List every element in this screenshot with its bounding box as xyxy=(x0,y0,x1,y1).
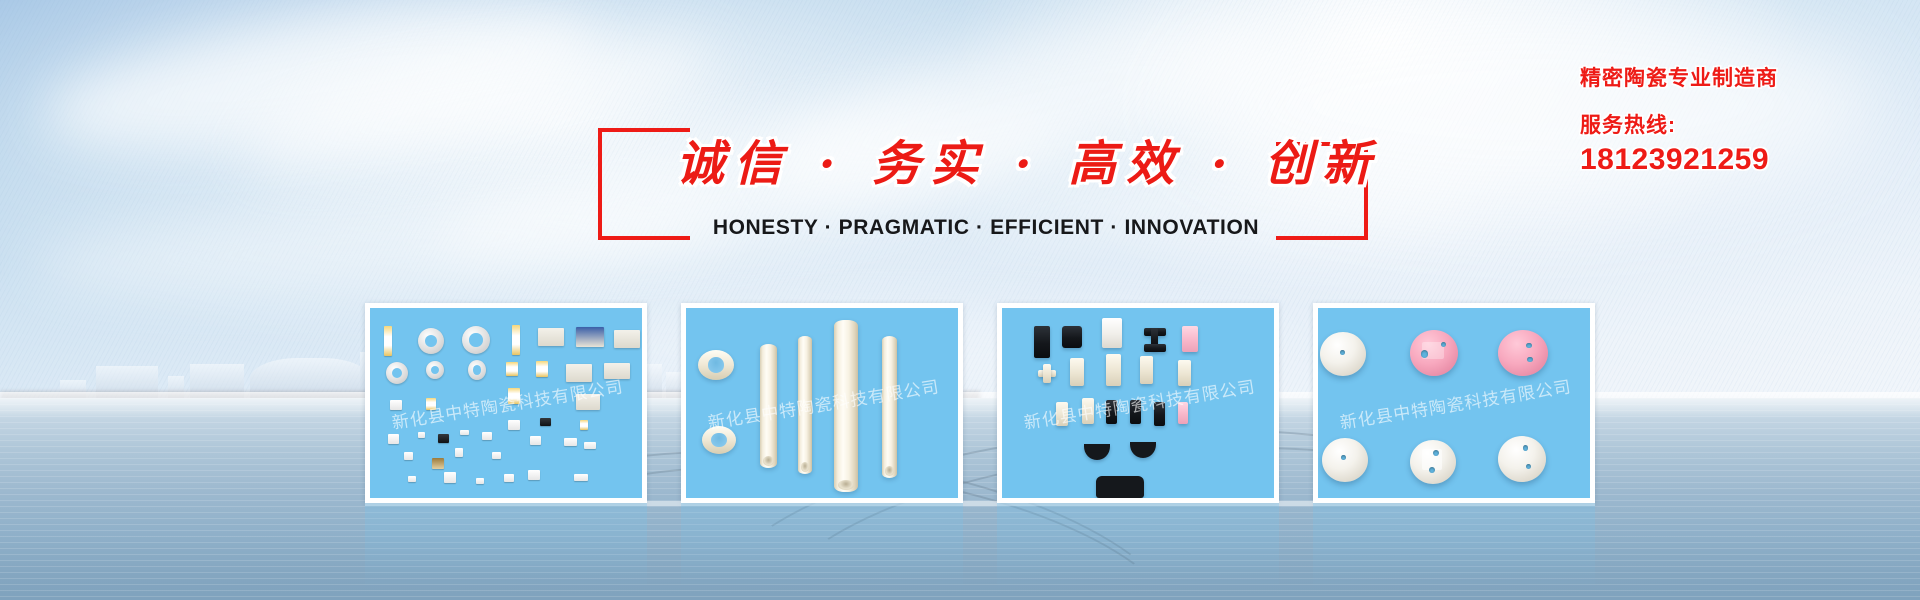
panel-reflection-edge xyxy=(365,501,1595,506)
promo-banner: 诚信 · 务实 · 高效 · 创新 HONESTY · PRAGMATIC · … xyxy=(0,0,1920,600)
product-panel-smd-components[interactable]: 新化县中特陶瓷科技有限公司 xyxy=(365,303,647,503)
hotline-label: 服务热线: xyxy=(1580,109,1900,139)
slogan-english: HONESTY · PRAGMATIC · EFFICIENT · INNOVA… xyxy=(676,216,1296,240)
hotline-number[interactable]: 18123921259 xyxy=(1580,143,1900,177)
panel-watermark: 新化县中特陶瓷科技有限公司 xyxy=(1318,369,1590,438)
panel-image: 新化县中特陶瓷科技有限公司 xyxy=(1318,308,1590,498)
panel-image: 新化县中特陶瓷科技有限公司 xyxy=(1002,308,1274,498)
product-panel-ceramic-blocks[interactable]: 新化县中特陶瓷科技有限公司 xyxy=(997,303,1279,503)
product-gallery: 新化县中特陶瓷科技有限公司 新化县中特陶瓷科技有限公司 xyxy=(365,303,1595,503)
product-panel-ceramic-tubes[interactable]: 新化县中特陶瓷科技有限公司 xyxy=(681,303,963,503)
bracket-left-side xyxy=(598,128,602,240)
panel-watermark: 新化县中特陶瓷科技有限公司 xyxy=(370,369,642,438)
panel-image: 新化县中特陶瓷科技有限公司 xyxy=(370,308,642,498)
slogan-chinese: 诚信 · 务实 · 高效 · 创新 xyxy=(676,124,1296,194)
slogan-block: 诚信 · 务实 · 高效 · 创新 HONESTY · PRAGMATIC · … xyxy=(598,128,1368,244)
company-tagline: 精密陶瓷专业制造商 xyxy=(1580,62,1900,92)
contact-block: 精密陶瓷专业制造商 服务热线: 18123921259 xyxy=(1580,62,1900,177)
panel-image: 新化县中特陶瓷科技有限公司 xyxy=(686,308,958,498)
product-panel-ceramic-discs[interactable]: 新化县中特陶瓷科技有限公司 xyxy=(1313,303,1595,503)
